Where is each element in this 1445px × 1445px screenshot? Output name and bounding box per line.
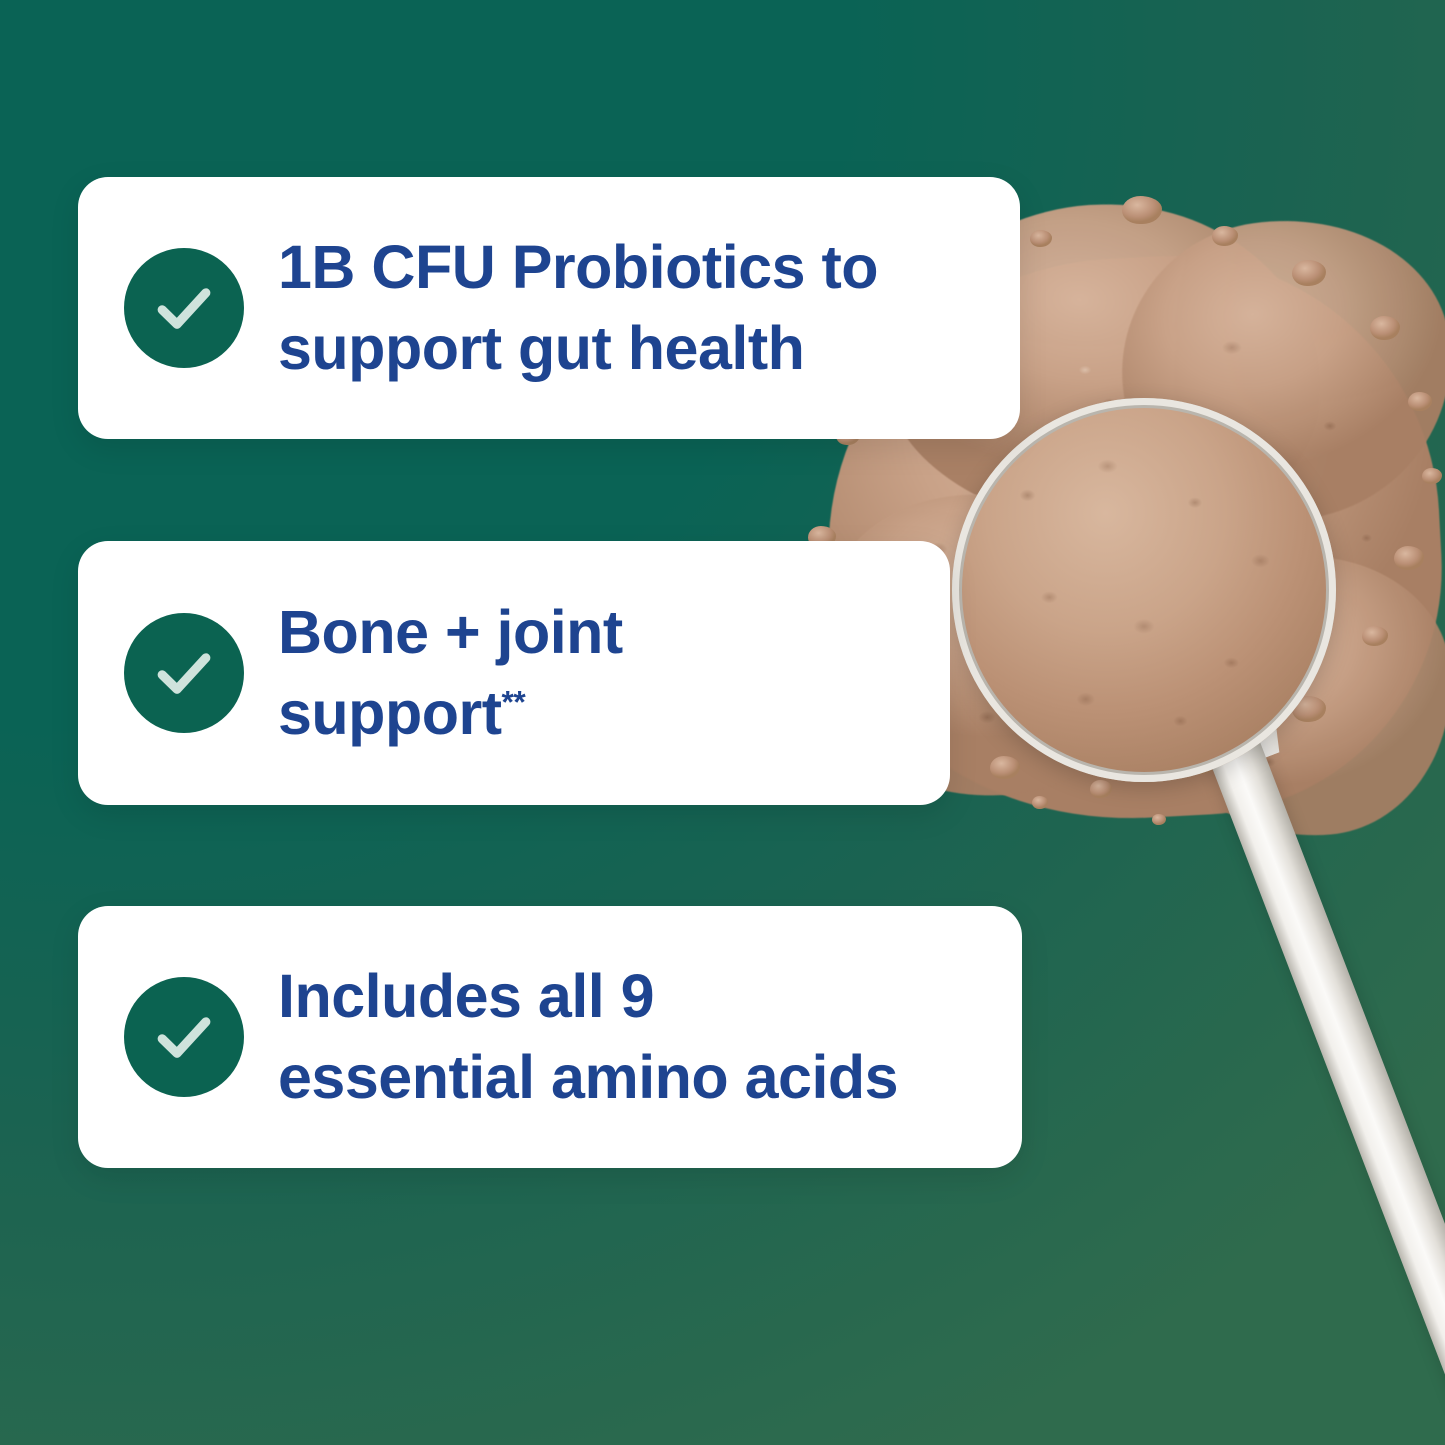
powder-crumb xyxy=(1394,546,1424,570)
product-benefits-graphic: 1B CFU Probiotics to support gut health … xyxy=(0,0,1445,1445)
check-circle-icon xyxy=(124,613,244,733)
benefit-text: Bone + joint support xyxy=(278,598,623,747)
powder-crumb xyxy=(1212,226,1238,246)
powder-crumb xyxy=(1090,780,1112,798)
benefit-text: Includes all 9 essential amino acids xyxy=(278,956,898,1117)
benefit-card-amino-acids: Includes all 9 essential amino acids xyxy=(78,906,1022,1168)
benefit-card-probiotics: 1B CFU Probiotics to support gut health xyxy=(78,177,1020,439)
benefit-text-wrapper: Bone + joint support** xyxy=(278,592,623,753)
powder-crumb xyxy=(1408,392,1432,411)
check-circle-icon xyxy=(124,977,244,1097)
powder-crumb xyxy=(1362,626,1388,646)
powder-crumb xyxy=(1292,696,1326,722)
powder-mound-top-right xyxy=(1103,198,1445,541)
powder-crumb xyxy=(1152,814,1166,825)
check-circle-icon xyxy=(124,248,244,368)
powder-crumb xyxy=(1422,468,1442,484)
powder-crumb xyxy=(1030,230,1052,247)
scoop-bowl xyxy=(952,398,1336,782)
powder-crumb xyxy=(1032,796,1048,809)
scoop-handle xyxy=(1190,690,1445,1419)
benefit-text: 1B CFU Probiotics to support gut health xyxy=(278,227,878,388)
benefit-card-bone-joint: Bone + joint support** xyxy=(78,541,950,805)
powder-crumb xyxy=(1370,316,1400,340)
powder-crumb xyxy=(1292,260,1326,286)
benefit-footnote-marker: ** xyxy=(502,684,526,720)
scoop-neck xyxy=(1170,658,1307,782)
powder-crumb xyxy=(1188,752,1216,774)
powder-mound-bottom-right xyxy=(1150,544,1445,848)
scoop-powder-texture xyxy=(962,408,1326,772)
powder-crumb xyxy=(1122,196,1162,224)
powder-crumb xyxy=(990,756,1020,779)
